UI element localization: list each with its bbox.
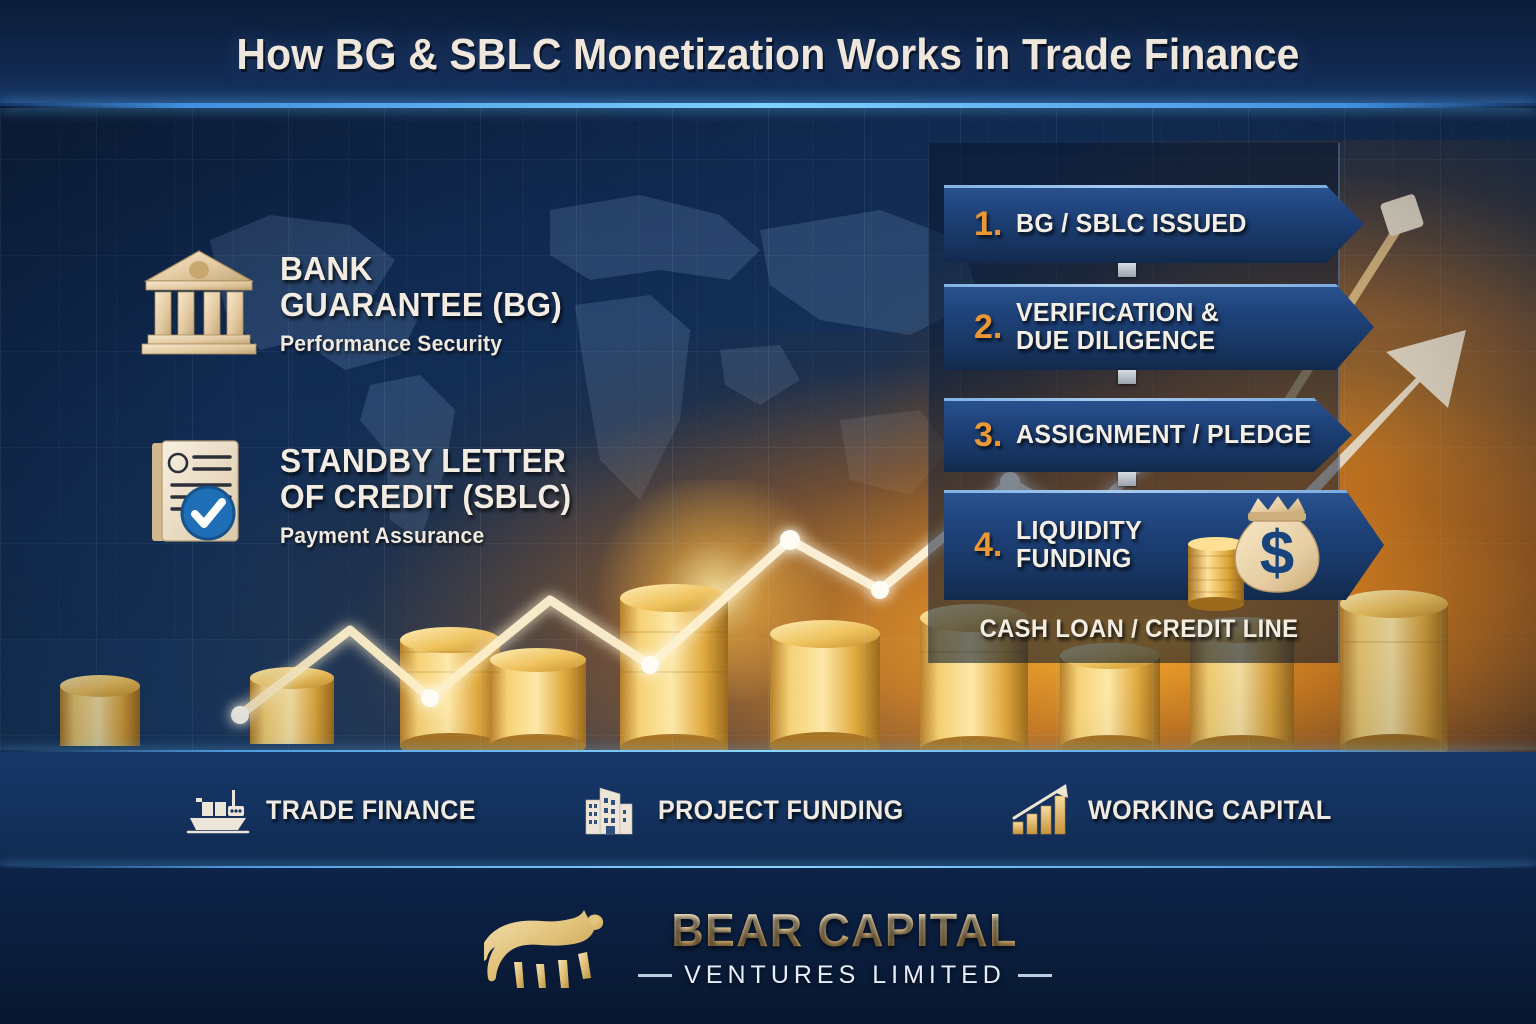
service-label: WORKING CAPITAL xyxy=(1088,795,1332,826)
services-bar: TRADE FINANCE xyxy=(0,752,1536,868)
step-label-line1: VERIFICATION & xyxy=(1016,299,1219,327)
step-label-line1: LIQUIDITY xyxy=(1016,517,1142,545)
steps-footer-label: CASH LOAN / CREDIT LINE xyxy=(954,615,1325,644)
step-number: 3. xyxy=(974,416,1002,455)
feature-text: STANDBY LETTER OF CREDIT (SBLC) Payment … xyxy=(280,437,584,549)
step-number: 4. xyxy=(974,526,1002,565)
step-label: ASSIGNMENT / PLEDGE xyxy=(1016,419,1311,449)
step-connector xyxy=(1118,370,1136,384)
logo-bar: BEAR CAPITAL VENTURES LIMITED xyxy=(0,868,1536,1024)
logo-text: BEAR CAPITAL VENTURES LIMITED xyxy=(638,903,1052,990)
service-label: PROJECT FUNDING xyxy=(658,795,904,826)
step-label: BG / SBLC ISSUED xyxy=(1016,208,1247,238)
logo-dash-left xyxy=(638,974,672,977)
bank-building-icon xyxy=(140,245,258,357)
step-connector xyxy=(1118,472,1136,486)
logo-tagline: VENTURES LIMITED xyxy=(684,961,1006,990)
logo-dash-right xyxy=(1018,974,1052,977)
step-label-line2: DUE DILIGENCE xyxy=(1016,327,1219,355)
office-building-icon xyxy=(578,784,642,836)
page-title: How BG & SBLC Monetization Works in Trad… xyxy=(54,30,1482,80)
title-divider xyxy=(0,103,1536,108)
feature-title-line2: OF CREDIT (SBLC) xyxy=(280,479,571,515)
step-banner-1[interactable]: 1. BG / SBLC ISSUED xyxy=(944,185,1364,263)
step-banner-3[interactable]: 3. ASSIGNMENT / PLEDGE xyxy=(944,398,1352,472)
infographic-root: How BG & SBLC Monetization Works in Trad… xyxy=(0,0,1536,1024)
bear-icon xyxy=(484,900,612,992)
feature-subtitle: Payment Assurance xyxy=(280,523,571,549)
feature-subtitle: Performance Security xyxy=(280,331,562,357)
step-number: 1. xyxy=(974,205,1002,244)
document-check-icon xyxy=(140,437,258,549)
feature-standby-letter-of-credit: STANDBY LETTER OF CREDIT (SBLC) Payment … xyxy=(140,437,584,549)
money-bag-icon: $ xyxy=(1186,496,1336,612)
service-project-funding[interactable]: PROJECT FUNDING xyxy=(578,784,922,836)
feature-text: BANK GUARANTEE (BG) Performance Security xyxy=(280,245,574,357)
service-trade-finance[interactable]: TRADE FINANCE xyxy=(186,784,492,836)
feature-title-line1: BANK xyxy=(280,251,562,287)
step-label-line2: FUNDING xyxy=(1016,545,1142,573)
feature-title-line1: STANDBY LETTER xyxy=(280,443,571,479)
growth-bar-chart-icon xyxy=(1008,784,1072,836)
step-number: 2. xyxy=(974,308,1002,347)
service-working-capital[interactable]: WORKING CAPITAL xyxy=(1008,784,1350,836)
logo-name: BEAR CAPITAL xyxy=(672,903,1018,957)
cargo-ship-icon xyxy=(186,784,250,836)
feature-bank-guarantee: BANK GUARANTEE (BG) Performance Security xyxy=(140,245,574,357)
step-connector xyxy=(1118,263,1136,277)
step-banner-2[interactable]: 2. VERIFICATION & DUE DILIGENCE xyxy=(944,284,1374,370)
service-label: TRADE FINANCE xyxy=(266,795,476,826)
svg-text:$: $ xyxy=(1260,519,1294,588)
feature-title-line2: GUARANTEE (BG) xyxy=(280,287,562,323)
